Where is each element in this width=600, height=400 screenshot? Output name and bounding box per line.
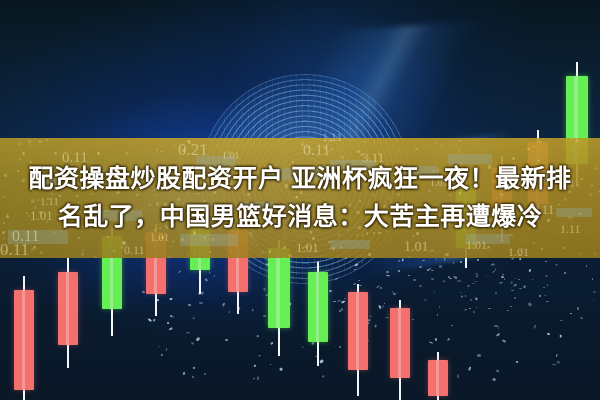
gold-grain [322,239,323,240]
gold-grain [307,257,309,259]
gold-grain [430,249,433,252]
gold-grain [360,153,363,156]
gold-grain [343,147,345,149]
gold-grain [242,238,244,240]
gold-grain [217,144,219,146]
gold-grain [161,236,164,239]
gold-grain [78,237,80,239]
gold-grain [81,253,84,256]
gold-grain [368,253,371,256]
gold-grain [445,253,448,256]
gold-grain [244,242,245,243]
headline: 配资操盘炒股配资开户 亚洲杯疯狂一夜！最新排 名乱了，中国男篮好消息：大苦主再遭… [0,160,600,236]
candlestick-body [14,290,34,390]
gold-grain [227,151,230,154]
gold-grain [113,250,115,252]
gold-grain [105,249,106,250]
gold-grain [107,236,109,238]
gold-grain [406,240,408,242]
gold-grain [364,141,366,143]
gold-grain [459,140,460,141]
gold-grain [107,245,109,247]
gold-grain [398,149,400,151]
gold-grain [138,253,139,254]
gold-grain [244,149,245,150]
gold-grain [221,254,222,255]
gold-grain [15,249,16,250]
gold-grain [247,143,248,144]
gold-grain [311,250,312,251]
gold-grain [301,143,304,146]
gold-grain [324,147,326,149]
gold-grain [539,141,541,143]
candlestick-body [308,272,328,342]
gold-grain [485,150,486,151]
gold-grain [294,247,295,248]
gold-grain [97,152,100,155]
gold-grain [296,242,297,243]
gold-grain [368,158,369,159]
gold-grain [122,241,125,244]
gold-grain [174,145,176,147]
gold-grain [39,140,42,143]
candlestick-body [390,308,410,378]
gold-grain [94,256,97,258]
gold-grain [519,254,521,256]
gold-grain [172,240,175,243]
gold-grain [200,145,202,147]
gold-grain [40,251,43,254]
gold-grain [429,145,430,146]
gold-grain [231,251,232,252]
gold-grain [269,250,272,253]
gold-grain [284,151,286,153]
gold-grain [302,247,304,249]
candlestick-body [268,248,290,328]
gold-grain [458,150,460,152]
gold-grain [187,253,190,256]
gold-grain [498,145,499,146]
gold-grain [82,249,85,252]
gold-grain [194,254,196,256]
gold-grain [288,254,291,257]
gold-grain [261,251,264,254]
gold-grain [369,257,372,258]
gold-grain [182,149,185,152]
gold-grain [408,256,411,258]
gold-grain [161,151,163,153]
gold-grain [18,143,20,145]
gold-grain [22,152,25,155]
gold-grain [516,139,517,140]
news-banner-image: 0.111.111.010.110.110.211.011.113.111.01… [0,0,600,400]
gold-grain [166,156,167,157]
gold-grain [3,238,5,240]
gold-grain [576,139,578,141]
gold-grain [541,248,544,251]
gold-grain [318,156,319,157]
gold-grain [348,139,349,140]
gold-grain [563,247,565,249]
gold-grain [76,257,79,258]
gold-grain [349,148,350,149]
headline-line-2: 名乱了，中国男篮好消息：大苦主再遭爆冷 [0,198,600,236]
gold-grain [209,251,211,253]
gold-grain [378,153,380,155]
gold-grain [283,246,286,249]
gold-grain [307,146,309,148]
gold-grain [508,153,510,155]
candlestick-body [348,292,368,370]
gold-grain [435,142,437,144]
gold-grain [312,237,315,240]
candlestick-body [428,360,448,396]
gold-grain [46,139,48,141]
gold-grain [180,157,181,158]
gold-grain [121,246,124,249]
gold-grain [12,252,13,253]
gold-grain [527,148,530,151]
gold-grain [251,242,253,244]
gold-grain [538,254,539,255]
gold-grain [188,141,191,144]
gold-grain [533,242,535,244]
gold-grain [440,144,443,147]
gold-grain [125,152,128,155]
gold-grain [156,149,158,151]
gold-grain [3,250,6,253]
gold-grain [282,257,285,258]
gold-grain [70,151,72,153]
gold-grain [305,245,308,248]
gold-grain [396,139,397,140]
gold-grain [594,252,597,255]
gold-grain [256,244,258,246]
gold-grain [578,139,579,140]
gold-grain [415,148,417,150]
gold-grain [540,252,541,253]
gold-grain [336,139,338,141]
gold-grain [290,157,291,158]
gold-grain [249,254,251,256]
gold-grain [571,138,572,139]
data-blip [330,240,370,249]
gold-grain [341,156,344,159]
headline-line-1: 配资操盘炒股配资开户 亚洲杯疯狂一夜！最新排 [0,160,600,198]
gold-grain [54,152,57,155]
gold-grain [522,248,525,251]
candlestick-body [58,272,78,345]
gold-grain [131,143,133,145]
gold-grain [276,158,277,159]
gold-grain [330,139,333,142]
gold-grain [579,253,580,254]
gold-grain [439,153,440,154]
gold-grain [487,247,489,249]
gold-grain [533,146,535,148]
gold-grain [385,255,387,257]
gold-grain [29,143,32,146]
gold-grain [466,151,467,152]
gold-grain [170,245,172,247]
gold-grain [252,143,255,146]
gold-grain [331,149,332,150]
